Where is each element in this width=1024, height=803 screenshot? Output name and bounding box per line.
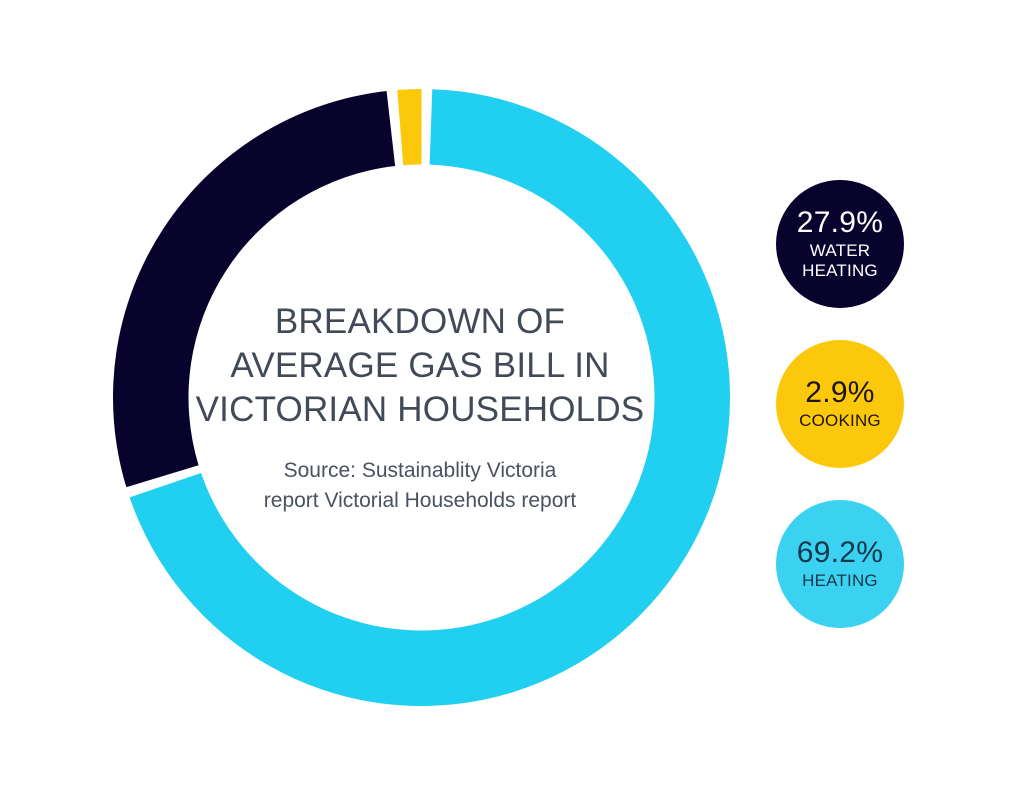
legend-item-water-heating[interactable]: 27.9% WATER HEATING (776, 180, 904, 308)
legend-percent-water-heating: 27.9% (797, 207, 884, 239)
legend-label-cooking: COOKING (799, 411, 881, 431)
legend-item-heating[interactable]: 69.2% HEATING (776, 500, 904, 628)
legend-item-cooking[interactable]: 2.9% COOKING (776, 340, 904, 468)
legend-label-water-heating: WATER HEATING (802, 241, 878, 281)
legend-label-heating: HEATING (802, 571, 878, 591)
legend-percent-heating: 69.2% (797, 537, 884, 569)
donut-slices (113, 89, 730, 706)
donut-slice-water-heating[interactable] (113, 91, 395, 487)
donut-slice-cooking[interactable] (397, 89, 421, 165)
donut-chart-svg (113, 89, 730, 706)
chart-legend: 27.9% WATER HEATING 2.9% COOKING 69.2% H… (776, 180, 906, 660)
legend-percent-cooking: 2.9% (805, 377, 875, 409)
donut-chart (113, 89, 730, 706)
